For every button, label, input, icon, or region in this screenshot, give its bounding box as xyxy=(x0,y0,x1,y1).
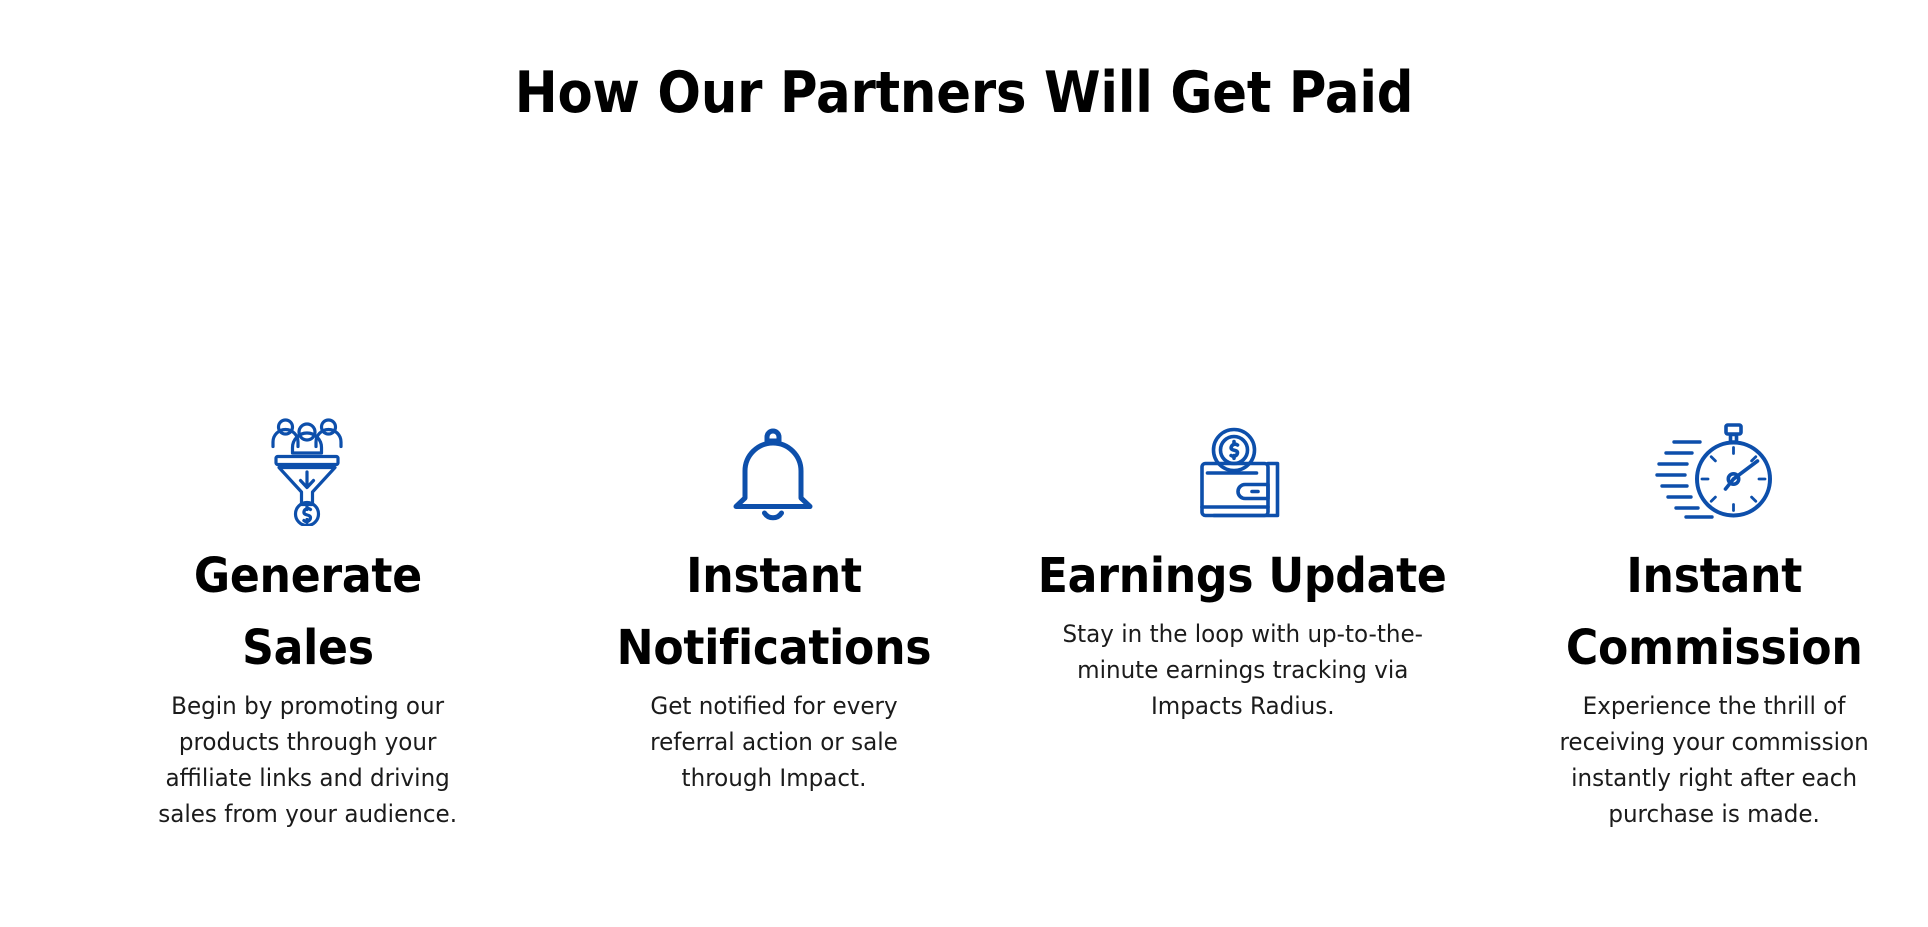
page-title: How Our Partners Will Get Paid xyxy=(96,58,1831,128)
sales-funnel-icon xyxy=(259,400,355,526)
benefit-card-earnings-update: Earnings Update Stay in the loop with up… xyxy=(1004,400,1481,724)
benefit-card-body: Begin by promoting our products through … xyxy=(158,688,457,832)
benefit-card-body: Experience the thrill of receiving your … xyxy=(1560,688,1869,832)
benefit-card-title: Generate Sales xyxy=(193,540,421,684)
benefit-card-body: Get notified for every referral action o… xyxy=(650,688,898,796)
benefit-card-title: Instant Notifications xyxy=(616,540,931,684)
benefit-cards-row: Generate Sales Begin by promoting our pr… xyxy=(0,400,1928,832)
benefit-card-generate-sales: Generate Sales Begin by promoting our pr… xyxy=(78,400,537,832)
benefit-card-body: Stay in the loop with up-to-the- minute … xyxy=(1062,616,1422,724)
benefit-card-title: Earnings Update xyxy=(1038,540,1447,612)
benefit-card-instant-commission: Instant Commission Experience the thrill… xyxy=(1501,400,1928,832)
partners-get-paid-section: How Our Partners Will Get Paid xyxy=(0,0,1928,927)
bell-icon xyxy=(725,400,821,526)
wallet-coin-icon xyxy=(1190,400,1294,526)
benefit-card-instant-notifications: Instant Notifications Get notified for e… xyxy=(555,400,992,796)
benefit-card-title: Instant Commission xyxy=(1566,540,1863,684)
fast-stopwatch-icon xyxy=(1654,400,1774,526)
